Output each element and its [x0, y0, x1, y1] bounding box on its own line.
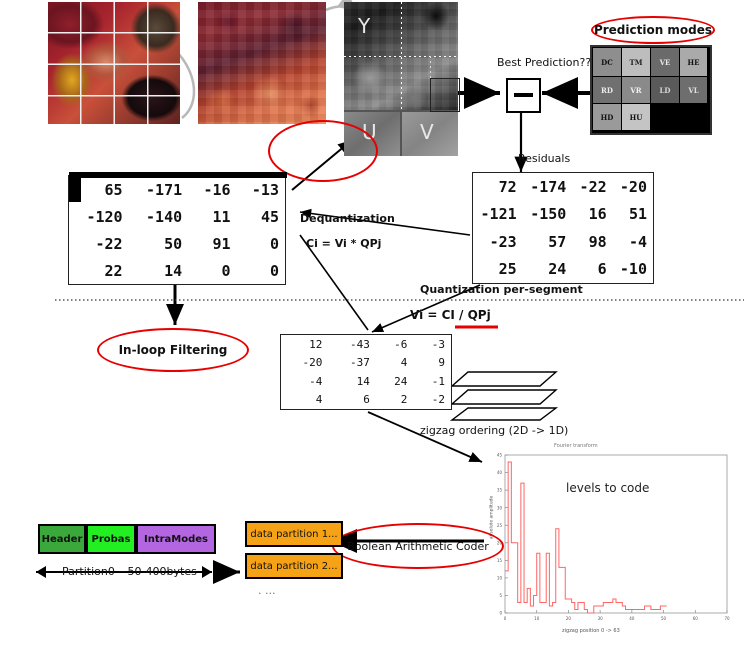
boolean-arithmetic-coder-ellipse: Boolean Arithmetic Coder — [332, 523, 504, 569]
matrix-row: -121-1501651 — [473, 201, 653, 229]
prediction-mode-hu: HU — [622, 104, 650, 130]
svg-text:60: 60 — [693, 616, 699, 621]
svg-text:40: 40 — [497, 470, 503, 475]
prediction-mode-hd: HD — [593, 104, 621, 130]
matrix-cell: 14 — [129, 257, 189, 284]
best-prediction-label: Best Prediction??? — [497, 56, 597, 69]
data-partition-1-label: data partition 1... — [250, 529, 337, 540]
matrix-cell: 4 — [281, 391, 328, 410]
matrix-cell: -43 — [328, 335, 375, 354]
zigzag-ordering-label: zigzag ordering (2D -> 1D) — [420, 424, 568, 437]
matrix-cell: -121 — [473, 201, 523, 229]
zoomed-macroblock-pixels — [198, 2, 326, 124]
matrix-cell: 57 — [523, 228, 573, 256]
dequantization-formula: Ci = Vi * QPj — [306, 237, 381, 250]
quantized-table: 12-43-6-3-20-3749-41424-1462-2 — [281, 335, 451, 409]
partition0-size-label: Partition0 −50-400bytes — [62, 565, 197, 578]
matrix-cell: 11 — [188, 203, 236, 230]
data-partition-2: data partition 2... — [245, 553, 343, 579]
matrix-cell: 51 — [613, 201, 653, 229]
chart-annotation: levels to code — [566, 481, 649, 495]
matrix-row: 72-174-22-20 — [473, 173, 653, 201]
prediction-mode-vr: VR — [622, 77, 650, 103]
matrix-row: -2250910 — [69, 230, 285, 257]
y-plane-label: Y — [358, 14, 370, 38]
matrix-cell: 45 — [237, 203, 285, 230]
matrix-cell: -3 — [413, 335, 451, 354]
matrix-cell: 25 — [473, 256, 523, 284]
bitstream-block-intramodes: IntraModes — [136, 524, 216, 554]
quantized-tbody: 12-43-6-3-20-3749-41424-1462-2 — [281, 335, 451, 409]
matrix-cell: -150 — [523, 201, 573, 229]
prediction-mode-dc: DC — [593, 48, 621, 76]
svg-text:30: 30 — [497, 505, 503, 510]
subtraction-box — [506, 78, 541, 113]
svg-text:5: 5 — [499, 593, 502, 598]
prediction-mode-rd: RD — [593, 77, 621, 103]
matrix-cell: -37 — [328, 354, 375, 373]
chart-plot: 010203040506070 051015202530354045 — [484, 443, 736, 641]
chart-xlabel: zigzag position 0 -> 63 — [562, 628, 620, 634]
boolean-arithmetic-coder-label: Boolean Arithmetic Coder — [347, 540, 489, 553]
svg-text:10: 10 — [534, 616, 540, 621]
matrix-cell: -13 — [237, 176, 285, 203]
matrix-cell: 6 — [328, 391, 375, 410]
matrix-cell: -6 — [376, 335, 414, 354]
residuals-label: Residuals — [518, 152, 570, 165]
prediction-modes-ellipse: Prediction modes — [591, 16, 715, 44]
matrix-cell: -174 — [523, 173, 573, 201]
matrix-cell: -1 — [413, 372, 451, 391]
matrix-cell: 72 — [473, 173, 523, 201]
bitstream-block-intramodes-label: IntraModes — [144, 534, 208, 545]
prediction-mode-ld: LD — [651, 77, 679, 103]
in-loop-filtering-ellipse: In-loop Filtering — [97, 328, 249, 372]
prediction-mode-vl: VL — [680, 77, 707, 103]
matrix-cell: -4 — [281, 372, 328, 391]
quantization-formula: Vi = CI / QPj — [410, 308, 491, 322]
matrix-cell: 24 — [376, 372, 414, 391]
svg-text:35: 35 — [497, 488, 503, 493]
data-partitions-ellipsis: . ... — [258, 584, 275, 597]
svg-text:25: 25 — [497, 523, 503, 528]
residuals-tbody: 72-174-22-20-121-1501651-235798-425246-1… — [473, 173, 653, 283]
matrix-cell: -2 — [413, 391, 451, 410]
matrix-cell: 98 — [572, 228, 612, 256]
matrix-cell: 14 — [328, 372, 375, 391]
matrix-cell: 12 — [281, 335, 328, 354]
matrix-cell: -171 — [129, 176, 189, 203]
matrix-cell: 0 — [237, 257, 285, 284]
svg-text:10: 10 — [497, 575, 503, 580]
levels-histogram-chart: Fourier transform levels to code absolut… — [484, 443, 736, 641]
chart-x-ticks: 010203040506070 — [504, 610, 730, 621]
matrix-row: 65-171-16-13 — [69, 176, 285, 203]
matrix-cell: -10 — [613, 256, 653, 284]
v-plane-label: V — [420, 120, 434, 144]
matrix-cell: -23 — [473, 228, 523, 256]
dequantized-matrix: 65-171-16-13-120-1401145-2250910221400 — [68, 175, 286, 285]
matrix-cell: -22 — [69, 230, 129, 257]
quantized-matrix: 12-43-6-3-20-3749-41424-1462-2 — [280, 334, 452, 410]
matrix-cell: -120 — [69, 203, 129, 230]
bitstream-block-probas-label: Probas — [92, 534, 131, 545]
data-partition-2-label: data partition 2... — [250, 561, 337, 572]
svg-text:50: 50 — [661, 616, 667, 621]
matrix-row: -120-1401145 — [69, 203, 285, 230]
svg-text:15: 15 — [497, 558, 503, 563]
svg-text:0: 0 — [504, 616, 507, 621]
matrix-cell: -140 — [129, 203, 189, 230]
matrix-cell: 6 — [572, 256, 612, 284]
prediction-modes-title: Prediction modes — [594, 23, 712, 37]
matrix-row: 221400 — [69, 257, 285, 284]
matrix-cell: 50 — [129, 230, 189, 257]
matrix-cell: -20 — [613, 173, 653, 201]
matrix-cell: 4 — [376, 354, 414, 373]
svg-text:0: 0 — [499, 611, 502, 616]
matrix-cell: 22 — [69, 257, 129, 284]
matrix-cell: 2 — [376, 391, 414, 410]
chart-title: Fourier transform — [554, 443, 598, 449]
bitstream-block-header-label: Header — [42, 534, 83, 545]
in-loop-filtering-label: In-loop Filtering — [119, 343, 228, 357]
bitstream-block-header: Header — [38, 524, 86, 554]
data-partition-1: data partition 1... — [245, 521, 343, 547]
matrix-row: 25246-10 — [473, 256, 653, 284]
matrix-cell: 0 — [188, 257, 236, 284]
matrix-row: 462-2 — [281, 391, 451, 410]
prediction-modes-grid: DC TM VE HE RD VR LD VL HD HU — [590, 45, 712, 135]
dequantized-table: 65-171-16-13-120-1401145-2250910221400 — [69, 176, 285, 284]
matrix-cell: -22 — [572, 173, 612, 201]
matrix-row: -41424-1 — [281, 372, 451, 391]
svg-text:30: 30 — [598, 616, 604, 621]
matrix-cell: -16 — [188, 176, 236, 203]
svg-text:70: 70 — [724, 616, 730, 621]
matrix-cell: -4 — [613, 228, 653, 256]
dequantized-tbody: 65-171-16-13-120-1401145-2250910221400 — [69, 176, 285, 284]
matrix-cell: 24 — [523, 256, 573, 284]
residuals-table: 72-174-22-20-121-1501651-235798-425246-1… — [473, 173, 653, 283]
prediction-mode-he: HE — [680, 48, 707, 76]
svg-text:45: 45 — [497, 453, 503, 458]
prediction-mode-tm: TM — [622, 48, 650, 76]
matrix-cell: 91 — [188, 230, 236, 257]
bitstream-block-probas: Probas — [86, 524, 136, 554]
matrix-cell: 0 — [237, 230, 285, 257]
svg-text:20: 20 — [566, 616, 572, 621]
matrix-cell: 16 — [572, 201, 612, 229]
residuals-matrix: 72-174-22-20-121-1501651-235798-425246-1… — [472, 172, 654, 284]
dequantization-label: Dequantization — [300, 212, 395, 225]
matrix-row: -20-3749 — [281, 354, 451, 373]
matrix-row: -235798-4 — [473, 228, 653, 256]
source-photo-macroblock-grid — [48, 2, 180, 124]
matrix-cell: 9 — [413, 354, 451, 373]
quantization-label: Quantization per-segment — [420, 283, 583, 296]
matrix-cell: -20 — [281, 354, 328, 373]
chart-y-ticks: 051015202530354045 — [497, 453, 508, 616]
prediction-mode-ve: VE — [651, 48, 679, 76]
svg-text:40: 40 — [629, 616, 635, 621]
matrix-row: 12-43-6-3 — [281, 335, 451, 354]
